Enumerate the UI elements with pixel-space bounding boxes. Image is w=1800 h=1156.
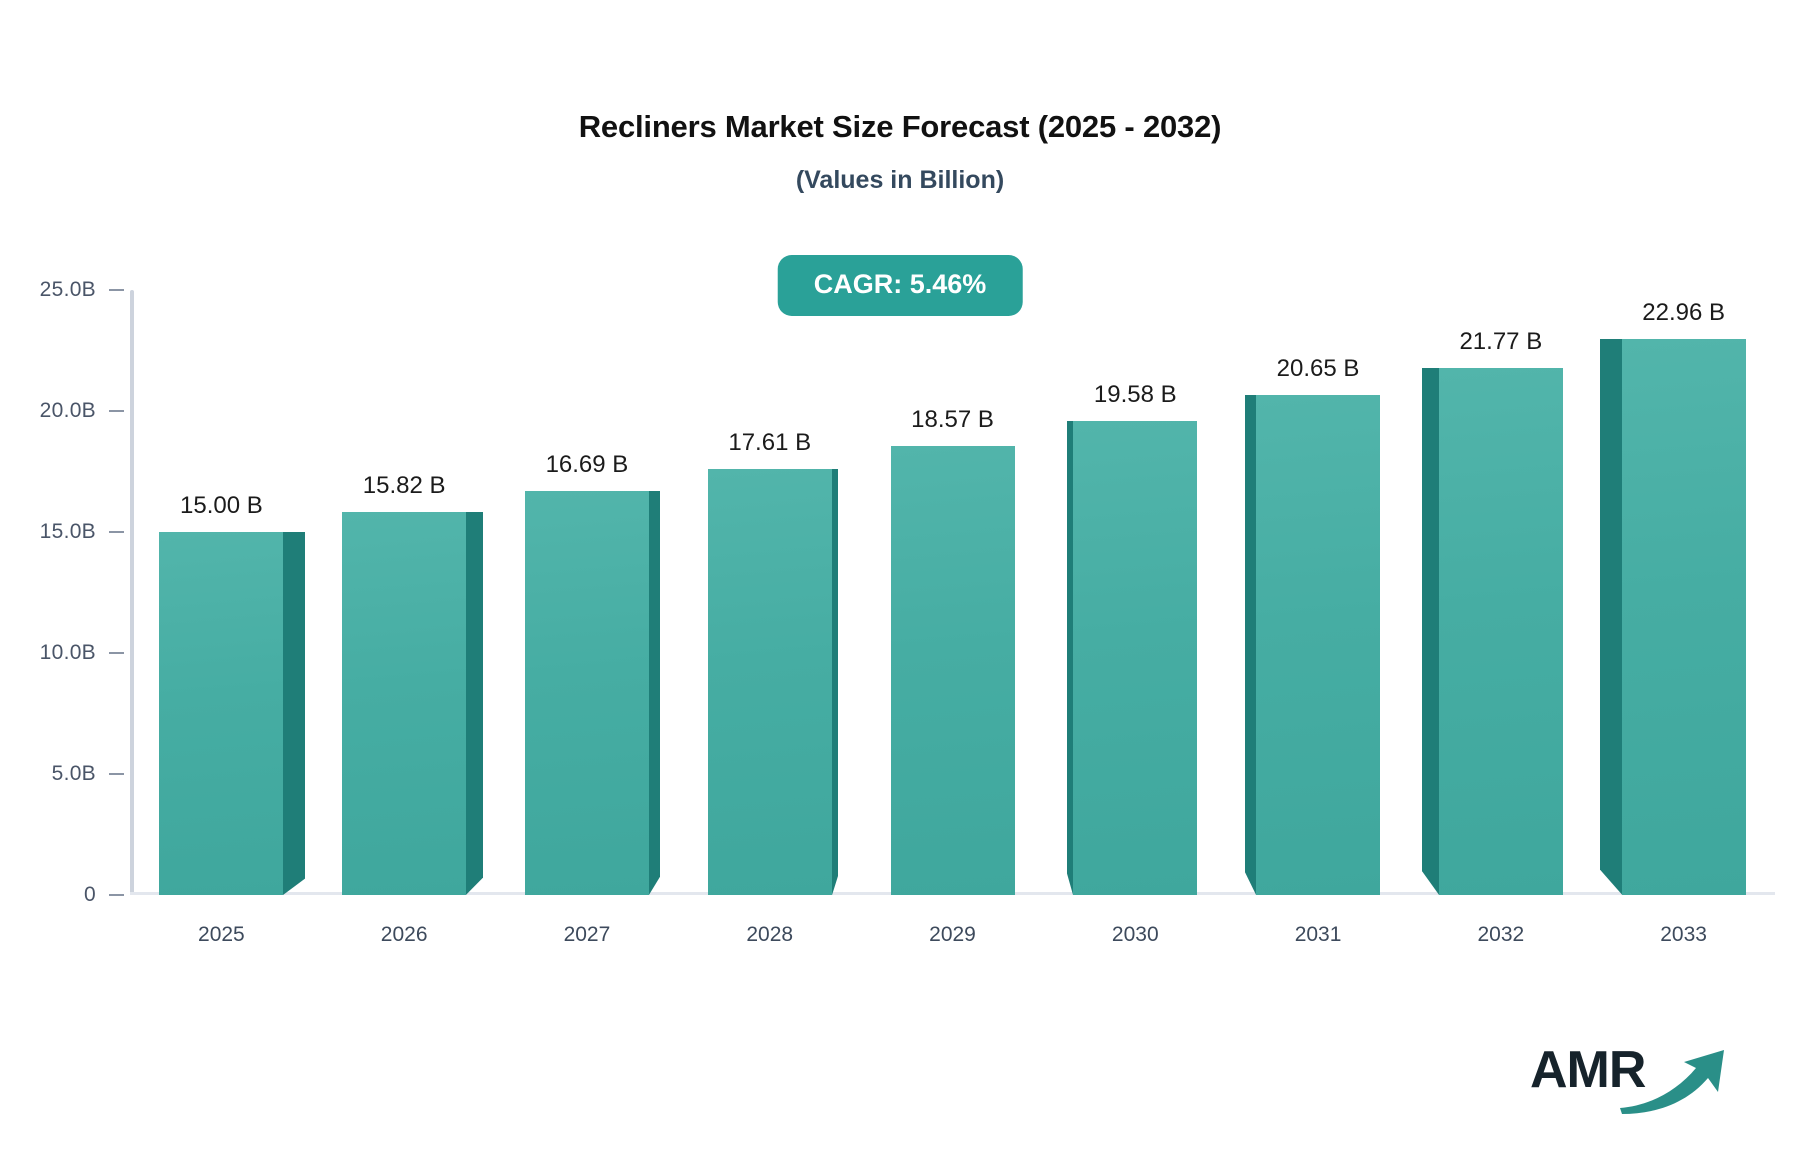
bar-body bbox=[708, 469, 832, 895]
y-axis-tick: 25.0B bbox=[40, 278, 124, 302]
bar-front-face bbox=[1622, 339, 1746, 895]
bar-body bbox=[891, 446, 1015, 895]
y-axis-tick-mark bbox=[109, 410, 124, 412]
bar-side-face bbox=[466, 512, 483, 895]
x-axis-tick-label: 2031 bbox=[1295, 923, 1342, 947]
amr-logo: AMR bbox=[1530, 1036, 1740, 1116]
y-axis-tick: 10.0B bbox=[40, 641, 124, 665]
bar-item[interactable]: 15.00 B2025 bbox=[159, 532, 283, 895]
x-axis-tick-label: 2028 bbox=[746, 923, 793, 947]
bar-side-face bbox=[832, 469, 838, 895]
bar-front-face bbox=[891, 446, 1015, 895]
bar-value-label: 20.65 B bbox=[1277, 355, 1360, 383]
y-axis-tick-label: 15.0B bbox=[40, 520, 96, 544]
chart-subtitle: (Values in Billion) bbox=[0, 165, 1800, 195]
bar-front-face bbox=[708, 469, 832, 895]
bar-side-face bbox=[649, 491, 660, 895]
bar-side-face bbox=[1067, 421, 1073, 895]
bar-item[interactable]: 16.69 B2027 bbox=[525, 491, 649, 895]
bar-item[interactable]: 17.61 B2028 bbox=[708, 469, 832, 895]
x-axis-tick-label: 2030 bbox=[1112, 923, 1159, 947]
bar-value-label: 21.77 B bbox=[1459, 328, 1542, 356]
bar-value-label: 17.61 B bbox=[728, 429, 811, 457]
y-axis-tick-label: 5.0B bbox=[52, 762, 96, 786]
bar-value-label: 15.00 B bbox=[180, 492, 263, 520]
bar-item[interactable]: 20.65 B2031 bbox=[1256, 395, 1380, 895]
bar-item[interactable]: 19.58 B2030 bbox=[1073, 421, 1197, 895]
bar-series: 15.00 B202515.82 B202616.69 B202717.61 B… bbox=[130, 290, 1775, 895]
y-axis-tick-label: 10.0B bbox=[40, 641, 96, 665]
bar-body bbox=[1256, 395, 1380, 895]
bar-side-face bbox=[283, 532, 305, 895]
bar-front-face bbox=[342, 512, 466, 895]
bar-item[interactable]: 22.96 B2033 bbox=[1622, 339, 1746, 895]
bar-body bbox=[342, 512, 466, 895]
y-axis-tick-mark bbox=[109, 652, 124, 654]
bar-value-label: 15.82 B bbox=[363, 472, 446, 500]
bar-body bbox=[1439, 368, 1563, 895]
bar-item[interactable]: 18.57 B2029 bbox=[891, 446, 1015, 895]
y-axis-tick-label: 0 bbox=[84, 883, 96, 907]
bar-front-face bbox=[1439, 368, 1563, 895]
x-axis-tick-label: 2032 bbox=[1477, 923, 1524, 947]
bar-front-face bbox=[159, 532, 283, 895]
bar-side-face bbox=[1600, 339, 1622, 895]
bar-body bbox=[1622, 339, 1746, 895]
y-axis-tick: 15.0B bbox=[40, 520, 124, 544]
bar-body bbox=[159, 532, 283, 895]
chart-header: Recliners Market Size Forecast (2025 - 2… bbox=[0, 108, 1800, 195]
x-axis-tick-label: 2029 bbox=[929, 923, 976, 947]
bar-value-label: 18.57 B bbox=[911, 406, 994, 434]
growth-arrow-icon bbox=[1618, 1048, 1736, 1119]
y-axis-tick: 20.0B bbox=[40, 399, 124, 423]
chart-canvas: Recliners Market Size Forecast (2025 - 2… bbox=[0, 0, 1800, 1156]
y-axis-tick-mark bbox=[109, 773, 124, 775]
bar-front-face bbox=[1073, 421, 1197, 895]
x-axis-tick-label: 2026 bbox=[381, 923, 428, 947]
bar-side-face bbox=[1245, 395, 1256, 895]
bar-item[interactable]: 15.82 B2026 bbox=[342, 512, 466, 895]
plot-area: 05.0B10.0B15.0B20.0B25.0B 15.00 B202515.… bbox=[130, 290, 1775, 895]
x-axis-tick-label: 2033 bbox=[1660, 923, 1707, 947]
y-axis-tick-label: 20.0B bbox=[40, 399, 96, 423]
page-title: Recliners Market Size Forecast (2025 - 2… bbox=[0, 108, 1800, 145]
y-axis-tick-label: 25.0B bbox=[40, 278, 96, 302]
bar-front-face bbox=[525, 491, 649, 895]
bar-item[interactable]: 21.77 B2032 bbox=[1439, 368, 1563, 895]
x-axis-tick-label: 2025 bbox=[198, 923, 245, 947]
bar-front-face bbox=[1256, 395, 1380, 895]
bar-value-label: 16.69 B bbox=[546, 451, 629, 479]
y-axis-tick: 5.0B bbox=[52, 762, 124, 786]
bar-body bbox=[1073, 421, 1197, 895]
y-axis-tick-mark bbox=[109, 894, 124, 896]
bar-body bbox=[525, 491, 649, 895]
x-axis-tick-label: 2027 bbox=[564, 923, 611, 947]
bar-side-face bbox=[1422, 368, 1439, 895]
y-axis-tick-mark bbox=[109, 531, 124, 533]
y-axis-tick-mark bbox=[109, 289, 124, 291]
y-axis-tick: 0 bbox=[84, 883, 124, 907]
bar-value-label: 22.96 B bbox=[1642, 299, 1725, 327]
bar-value-label: 19.58 B bbox=[1094, 381, 1177, 409]
